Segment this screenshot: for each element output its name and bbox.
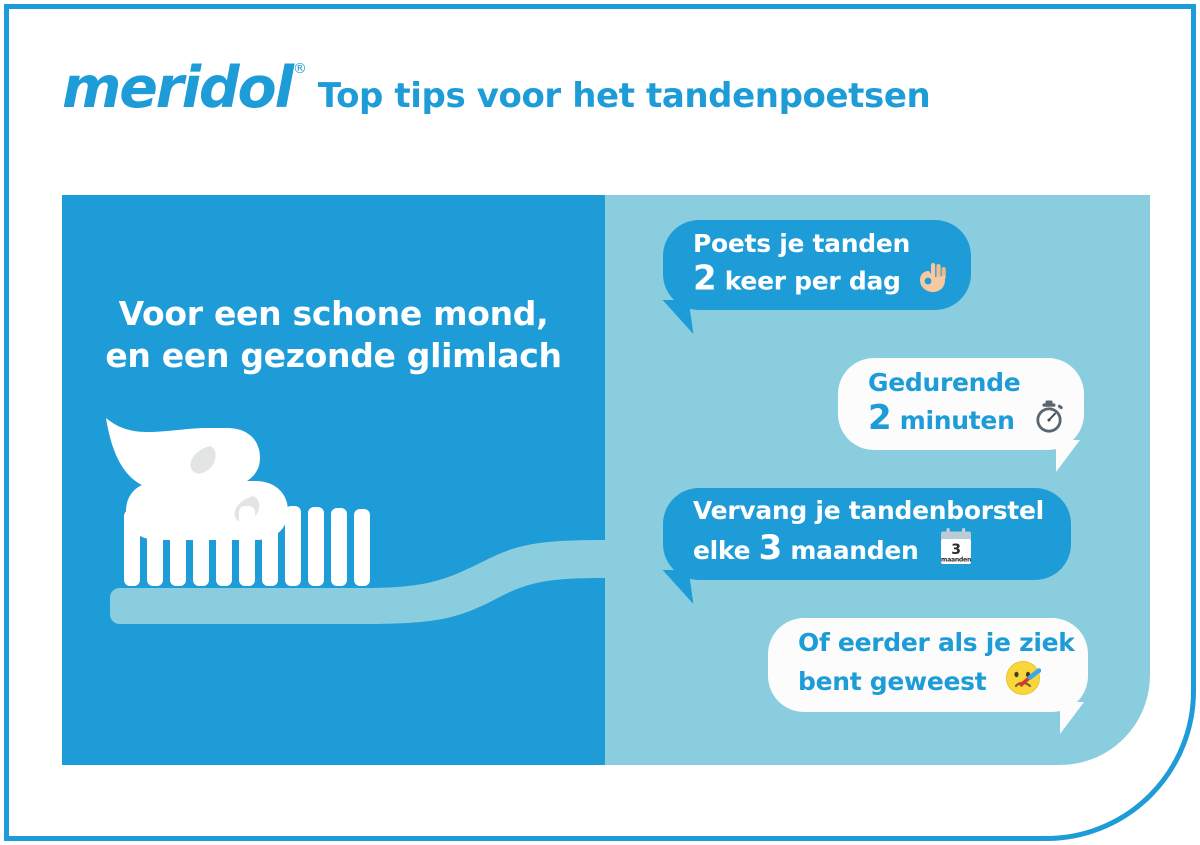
tip-line-2-rest: bent geweest — [798, 667, 986, 696]
tip-bubble-after-illness[interactable]: Of eerder als je ziek bent geweest — [768, 618, 1088, 712]
tip-line-2: 2 minuten — [868, 400, 1065, 444]
toothbrush-illustration — [62, 410, 622, 650]
registered-trademark-icon: ® — [293, 62, 307, 76]
tip-number: 2 — [693, 259, 716, 299]
infographic-root: meridol® Top tips voor het tandenpoetsen… — [0, 0, 1200, 845]
tip-bubble-brush-twice[interactable]: Poets je tanden 2 keer per dag — [663, 220, 971, 310]
page-title: Top tips voor het tandenpoetsen — [318, 79, 930, 113]
tip-line-1: Poets je tanden — [693, 226, 949, 262]
bubble-tail — [663, 300, 694, 334]
logo-wordmark: meridol — [62, 55, 292, 121]
tip-line-1: Vervang je tandenborstel — [693, 493, 1044, 529]
tip-text: Vervang je tandenborstel elke 3 maanden … — [693, 493, 1044, 576]
tip-line-1: Of eerder als je ziek — [798, 625, 1075, 661]
face-with-thermometer-icon — [1005, 660, 1041, 706]
tip-bubble-two-minutes[interactable]: Gedurende 2 minuten — [838, 358, 1084, 450]
tip-text: Poets je tanden 2 keer per dag — [693, 226, 949, 304]
bubble-tail — [663, 570, 694, 604]
headline-line-2: en een gezonde glimlach — [62, 335, 605, 377]
toothbrush-bristles — [124, 506, 370, 586]
calendar-label: maanden — [941, 557, 971, 564]
tip-line-2: bent geweest — [798, 660, 1075, 706]
ok-hand-icon — [919, 261, 949, 304]
tip-number: 2 — [868, 398, 891, 438]
tip-bubble-replace-brush[interactable]: Vervang je tandenborstel elke 3 maanden … — [663, 488, 1071, 580]
tip-line-2-rest: maanden — [782, 536, 919, 565]
header: meridol® Top tips voor het tandenpoetsen — [62, 60, 930, 117]
tip-line-2: elke 3 maanden 3 maanden — [693, 528, 1044, 576]
stopwatch-icon — [1033, 400, 1065, 444]
headline-line-1: Voor een schone mond, — [62, 293, 605, 335]
tip-line-2: 2 keer per dag — [693, 261, 949, 304]
meridol-logo: meridol® — [62, 60, 292, 117]
tip-text: Gedurende 2 minuten — [868, 365, 1065, 444]
bubble-tail — [1060, 702, 1084, 734]
tip-number: 3 — [759, 528, 782, 568]
tip-line-2-rest: minuten — [891, 406, 1014, 435]
tip-line-2-pre: elke — [693, 536, 759, 565]
headline: Voor een schone mond, en een gezonde gli… — [62, 293, 605, 377]
bubble-tail — [1056, 440, 1080, 472]
calendar-icon: 3 maanden — [939, 528, 973, 576]
tip-line-2-rest: keer per dag — [716, 267, 900, 296]
tip-text: Of eerder als je ziek bent geweest — [798, 625, 1075, 706]
tip-line-1: Gedurende — [868, 365, 1065, 401]
